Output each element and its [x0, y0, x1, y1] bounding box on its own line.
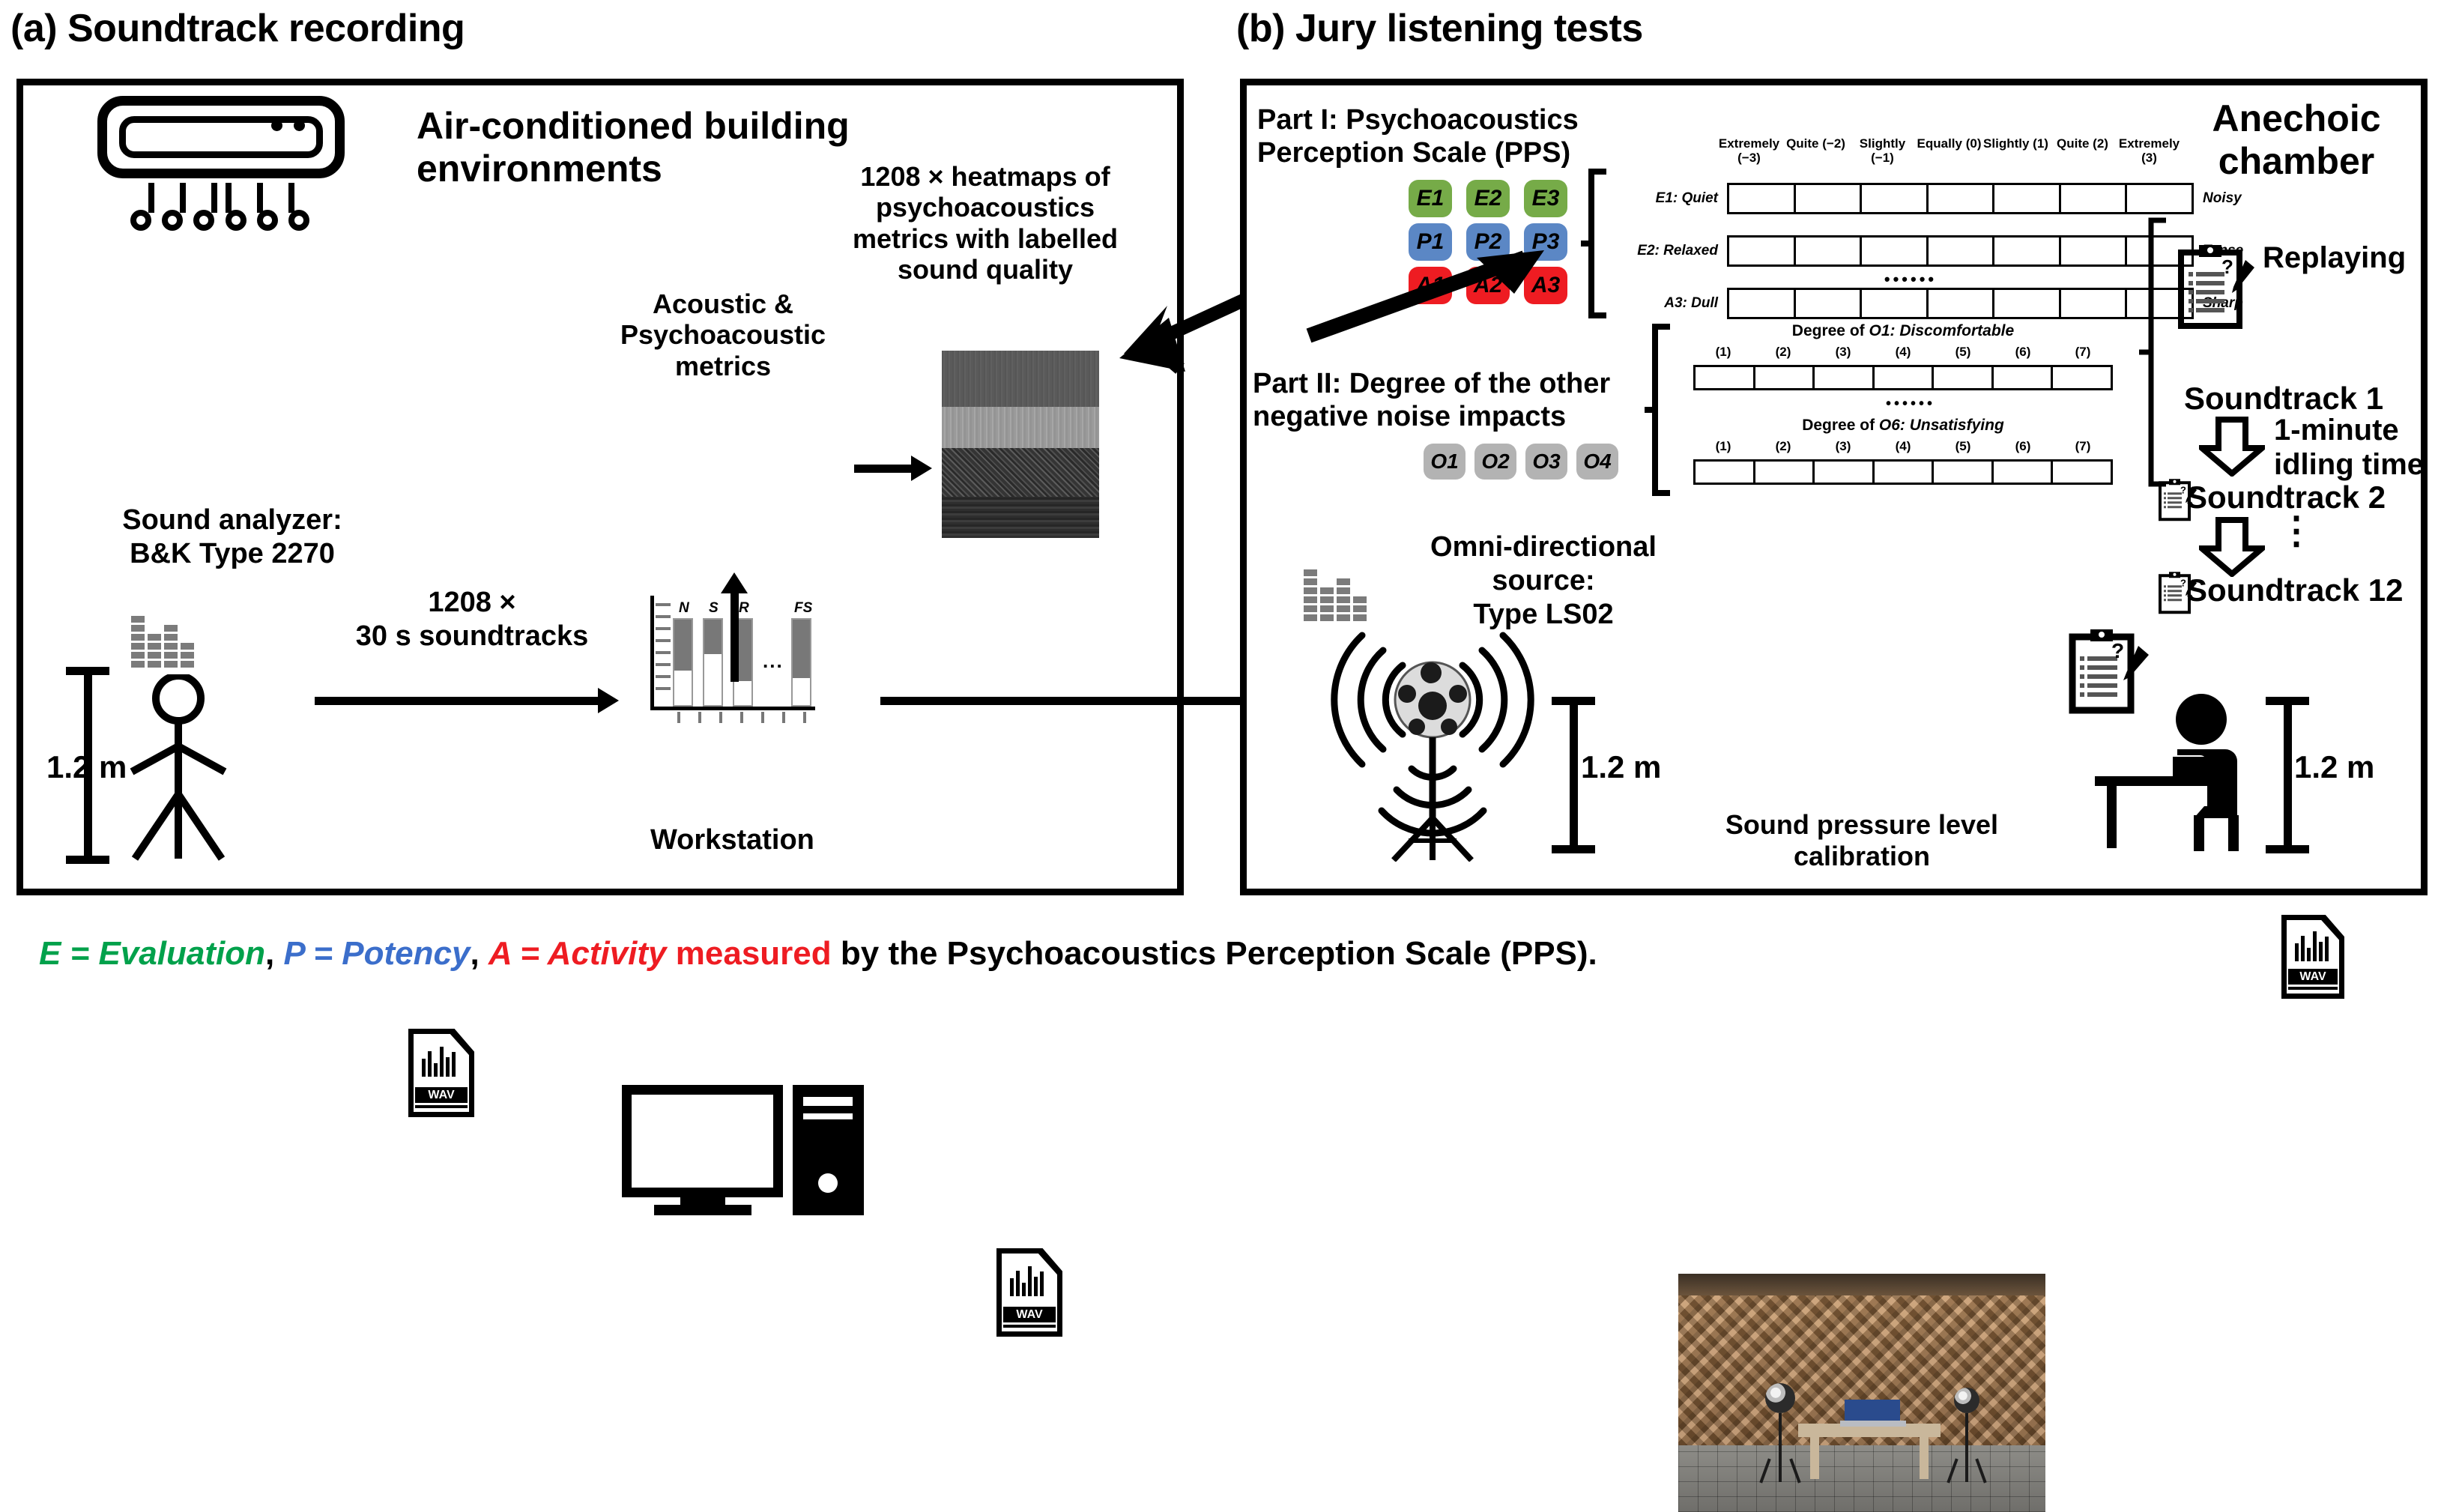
soundtracks-count-label: 1208 × 30 s soundtracks	[322, 586, 622, 653]
p2-header: (1)	[1693, 345, 1753, 360]
degree-prefix: Degree of	[1792, 322, 1869, 339]
p2-cell[interactable]	[1815, 367, 1875, 388]
vent-icon	[288, 183, 312, 231]
scale-row-left-label: E2: Relaxed	[1615, 243, 1727, 259]
p2-cell[interactable]	[1815, 462, 1875, 483]
other-badge-o2[interactable]: O2	[1474, 444, 1516, 480]
scale-cell[interactable]	[2061, 290, 2128, 317]
degree-item: O1: Discomfortable	[1869, 322, 2014, 339]
scale-row-right-label: Noisy	[2194, 190, 2242, 207]
metric-bar-label: FS	[794, 600, 812, 617]
questionnaire-clipboard-icon: ?	[2177, 244, 2259, 330]
height-label-a: 1.2 m	[46, 749, 127, 785]
idling-time-label: 1-minute idling time	[2274, 414, 2424, 482]
metric-bar-label: S	[709, 600, 719, 617]
pps-scale-row-e1: E1: Quiet Noisy	[1615, 183, 2242, 214]
sequence-track-12: Soundtrack 12	[2186, 572, 2403, 608]
other-badge-o1[interactable]: O1	[1424, 444, 1466, 480]
scale-cell[interactable]	[1994, 238, 2061, 264]
microphone-tripod-icon	[112, 674, 330, 862]
listener-height-label: 1.2 m	[2294, 749, 2374, 785]
p2-cell[interactable]	[1696, 367, 1755, 388]
source-display-icon	[1304, 569, 1367, 621]
scale-header: Slightly (1)	[1982, 136, 2049, 165]
scale-cell[interactable]	[1796, 185, 1863, 212]
p2-header: (6)	[1993, 439, 2053, 454]
omni-loudspeaker-icon	[1319, 622, 1551, 862]
part2-scale-row-o6[interactable]	[1693, 459, 2113, 485]
p2-header: (4)	[1873, 439, 1933, 454]
caption-seg-a: A = Activity	[489, 935, 667, 972]
anechoic-chamber-title: Anechoic chamber	[2173, 97, 2420, 183]
part2-header-row-o6: (1) (2) (3) (4) (5) (6) (7)	[1693, 439, 2113, 454]
svg-text:?: ?	[2180, 484, 2186, 495]
scale-row-cells[interactable]	[1727, 235, 2194, 267]
scale-header: Equally (0)	[1916, 136, 1982, 165]
down-arrow-icon-1	[2199, 417, 2265, 477]
scale-cell[interactable]	[1929, 238, 1995, 264]
p2-header: (2)	[1753, 345, 1813, 360]
p2-cell[interactable]	[1875, 367, 1935, 388]
wav-label: WAV	[1003, 1307, 1056, 1322]
scale-cell[interactable]	[1729, 185, 1796, 212]
p2-header: (4)	[1873, 345, 1933, 360]
caption-seg-measured: measured	[667, 935, 832, 972]
caption-seg-comma1: ,	[265, 935, 283, 972]
scale-cell[interactable]	[2061, 185, 2128, 212]
metric-bar	[791, 618, 811, 707]
seated-listener-icon: ?	[2068, 628, 2263, 853]
scale-cell[interactable]	[2061, 238, 2128, 264]
metric-bar-label: R	[739, 600, 749, 617]
p2-header: (6)	[1993, 345, 2053, 360]
part1-title: Part I: Psychoacoustics Perception Scale…	[1257, 103, 1579, 169]
wav-file-icon-playback: WAV	[2281, 915, 2344, 999]
scale-cell[interactable]	[1862, 185, 1929, 212]
p2-header: (5)	[1933, 345, 1993, 360]
wav-file-icon-output: WAV	[996, 1248, 1062, 1337]
p2-header: (3)	[1813, 345, 1873, 360]
vent-icon	[193, 183, 218, 231]
scale-cell[interactable]	[1729, 290, 1796, 317]
part2-scale-title-o1: Degree of O1: Discomfortable	[1693, 322, 2113, 340]
svg-text:?: ?	[2180, 577, 2186, 588]
analyzer-display-icon	[131, 616, 194, 668]
other-badge-o4[interactable]: O4	[1576, 444, 1618, 480]
p2-cell[interactable]	[1755, 367, 1815, 388]
pps-scale-ellipsis: ••••••	[1843, 270, 1978, 289]
part1-bracket	[1581, 169, 1611, 318]
replaying-label: Replaying	[2263, 241, 2406, 275]
caption-seg-e: E = Evaluation	[39, 935, 265, 972]
scale-cell[interactable]	[1729, 238, 1796, 264]
svg-text:?: ?	[2111, 639, 2124, 662]
scale-cell[interactable]	[1796, 238, 1863, 264]
vent-icon	[130, 183, 155, 231]
pps-badge-e2[interactable]: E2	[1466, 180, 1510, 217]
scale-header: Extremely (−3)	[1716, 136, 1782, 165]
p2-cell[interactable]	[1696, 462, 1755, 483]
other-badge-o3[interactable]: O3	[1525, 444, 1567, 480]
p2-cell[interactable]	[1994, 367, 2054, 388]
p2-header: (7)	[2053, 345, 2113, 360]
scale-header: Slightly (−1)	[1849, 136, 1916, 165]
svg-text:?: ?	[2221, 255, 2233, 278]
scale-row-left-label: A3: Dull	[1615, 295, 1727, 312]
other-impact-badges: O1 O2 O3 O4	[1424, 444, 1618, 480]
pps-badge-e3[interactable]: E3	[1524, 180, 1567, 217]
anechoic-chamber-photo	[1678, 1274, 2045, 1512]
scale-cell[interactable]	[1929, 290, 1995, 317]
wav-label: WAV	[415, 1087, 468, 1103]
scale-cell[interactable]	[2127, 185, 2192, 212]
p2-cell[interactable]	[1875, 462, 1935, 483]
wav-file-icon: WAV	[408, 1029, 474, 1117]
part2-scale-row-o1[interactable]	[1693, 365, 2113, 390]
part2-header-row-o1: (1) (2) (3) (4) (5) (6) (7)	[1693, 345, 2113, 360]
p2-header: (1)	[1693, 439, 1753, 454]
vent-icon	[225, 183, 249, 231]
part2-scale-title-o6: Degree of O6: Unsatisfying	[1693, 417, 2113, 435]
scale-header: Quite (−2)	[1782, 136, 1849, 165]
scale-cell[interactable]	[1994, 290, 2061, 317]
scale-cell[interactable]	[1994, 185, 2061, 212]
badges-to-scale-arrow	[1300, 247, 1547, 345]
panel-b-title: (b) Jury listening tests	[1236, 6, 1643, 51]
caption-seg-tail: by the Psychoacoustics Perception Scale …	[832, 935, 1597, 972]
metric-bar	[703, 618, 723, 707]
p2-header: (2)	[1753, 439, 1813, 454]
degree-prefix: Degree of	[1802, 417, 1879, 434]
wav-label: WAV	[2288, 969, 2338, 985]
sequence-vertical-dots: ⋮	[2278, 515, 2315, 545]
p2-cell[interactable]	[1934, 367, 1994, 388]
chart-to-heatmap-arrow	[854, 465, 913, 473]
caption-seg-p: P = Potency	[283, 935, 470, 972]
heatmap-caption: 1208 × heatmaps of psychoacoustics metri…	[828, 161, 1143, 285]
recording-to-workstation-arrow	[315, 697, 599, 705]
degree-item: O6: Unsatisfying	[1879, 417, 2004, 434]
metric-bar-label: N	[679, 600, 689, 617]
panel-a-title: (a) Soundtrack recording	[10, 6, 465, 51]
psychoacoustics-heatmap	[942, 351, 1099, 538]
scale-row-left-label: E1: Quiet	[1615, 190, 1727, 207]
p2-cell[interactable]	[2053, 462, 2111, 483]
vent-icon	[162, 183, 187, 231]
scale-cell[interactable]	[1929, 185, 1995, 212]
pps-scale-header-row: Extremely (−3) Quite (−2) Slightly (−1) …	[1716, 136, 2183, 165]
scale-row-cells[interactable]	[1727, 288, 2194, 319]
sequence-track-1: Soundtrack 1	[2184, 381, 2383, 417]
p2-cell[interactable]	[1934, 462, 1994, 483]
figure-caption: E = Evaluation, P = Potency, A = Activit…	[39, 935, 1597, 973]
source-height-label: 1.2 m	[1581, 749, 1661, 785]
scale-cell[interactable]	[1862, 290, 1929, 317]
down-arrow-icon-2	[2199, 517, 2265, 577]
pps-badge-e1[interactable]: E1	[1409, 180, 1452, 217]
vent-icon	[256, 183, 281, 231]
workstation-to-jury-arrow	[880, 697, 1285, 705]
metrics-ellipsis: ...	[763, 650, 784, 673]
p2-cell[interactable]	[2053, 367, 2111, 388]
sound-analyzer-label: Sound analyzer: B&K Type 2270	[60, 504, 405, 571]
scale-cell[interactable]	[1862, 238, 1929, 264]
part2-scale-ellipsis: ••••••	[1843, 396, 1978, 413]
part2-title: Part II: Degree of the other negative no…	[1253, 367, 1610, 433]
p2-header: (5)	[1933, 439, 1993, 454]
p2-cell[interactable]	[1994, 462, 2054, 483]
part2-bracket	[1645, 324, 1675, 496]
workstation-icon	[622, 1085, 869, 1216]
omni-source-label: Omni-directional source: Type LS02	[1397, 530, 1690, 631]
photo-caption: Sound pressure level calibration	[1663, 809, 2060, 872]
scale-header: Quite (2)	[2049, 136, 2116, 165]
air-conditioner-icon	[97, 96, 345, 231]
scale-row-cells[interactable]	[1727, 183, 2194, 214]
sequence-bracket	[2139, 217, 2169, 487]
workstation-to-chart-arrow	[731, 592, 739, 682]
metrics-title: Acoustic & Psychoacoustic metrics	[599, 288, 847, 381]
caption-seg-comma2: ,	[470, 935, 488, 972]
p2-header: (7)	[2053, 439, 2113, 454]
environment-title: Air-conditioned building environments	[417, 105, 850, 190]
workstation-label: Workstation	[650, 824, 814, 856]
p2-header: (3)	[1813, 439, 1873, 454]
p2-cell[interactable]	[1755, 462, 1815, 483]
metric-bar	[673, 618, 693, 707]
scale-cell[interactable]	[1796, 290, 1863, 317]
